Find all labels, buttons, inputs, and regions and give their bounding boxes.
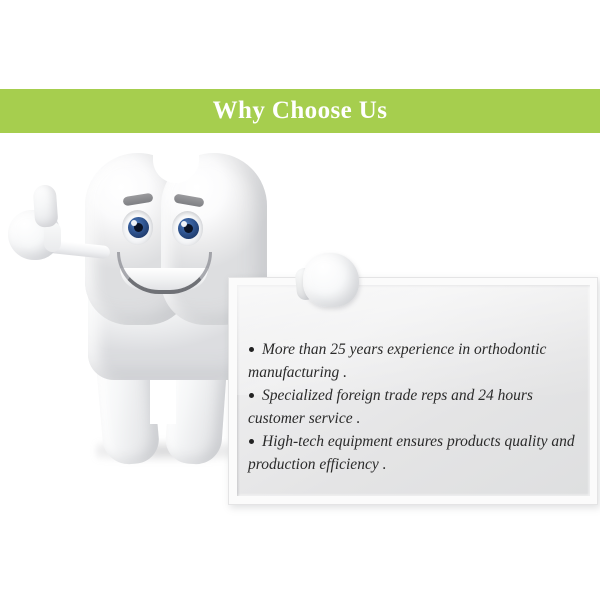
eye-right-icon (172, 211, 203, 246)
list-item-text: Specialized foreign trade reps and 24 ho… (248, 387, 533, 427)
bullet-dot-icon (249, 393, 254, 398)
eye-left-icon (122, 210, 153, 245)
feature-list: More than 25 years experience in orthodo… (248, 338, 584, 476)
list-item: High-tech equipment ensures products qua… (248, 430, 584, 476)
hand-right (303, 253, 359, 307)
bullet-dot-icon (249, 347, 254, 352)
eye-glint-right (181, 221, 187, 227)
thumb-left (33, 184, 59, 228)
promo-banner: Why Choose Us (0, 0, 600, 600)
list-item: More than 25 years experience in orthodo… (248, 338, 584, 384)
list-item: Specialized foreign trade reps and 24 ho… (248, 384, 584, 430)
bullet-dot-icon (249, 439, 254, 444)
eye-glint-left (131, 220, 137, 226)
page-title: Why Choose Us (0, 89, 600, 133)
list-item-text: More than 25 years experience in orthodo… (248, 341, 546, 381)
list-item-text: High-tech equipment ensures products qua… (248, 433, 575, 473)
